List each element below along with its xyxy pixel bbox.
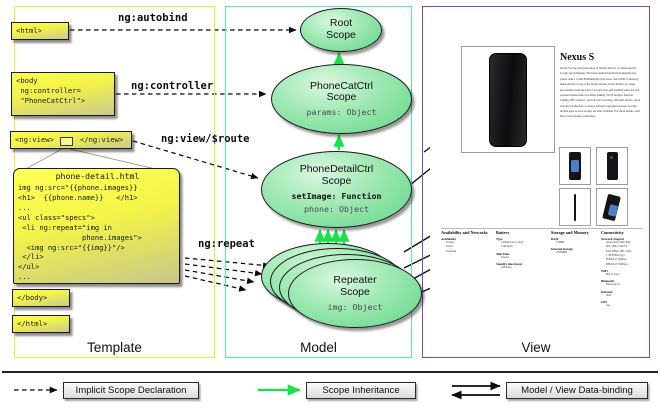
legend-item-scope-inheritance: Scope Inheritance: [306, 382, 416, 399]
legend-double-arrow: [452, 386, 500, 395]
legend-item-data-binding: Model / View Data-binding: [506, 382, 648, 399]
scope-repeater-line2: Scope: [340, 286, 370, 298]
legend-item-implicit-scope-declaration: Implicit Scope Declaration: [63, 382, 199, 399]
scope-repeater-prop-img: img: Object: [328, 302, 383, 312]
diagram-canvas: Template Model View <html> <body ng:cont…: [0, 0, 660, 420]
scope-repeater-line1: Repeater: [333, 274, 376, 286]
legend-arrow-layer: [0, 0, 660, 420]
scope-repeater: Repeater Scope img: Object: [288, 259, 422, 328]
